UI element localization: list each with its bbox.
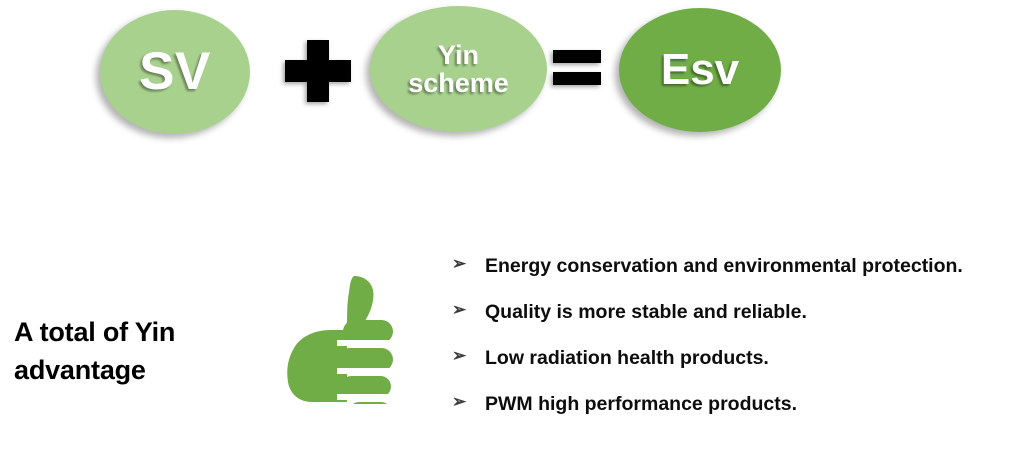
arrow-bullet-icon: ➢ xyxy=(452,248,485,279)
ellipse-yin-scheme: Yin scheme xyxy=(370,6,547,132)
list-item: ➢ Energy conservation and environmental … xyxy=(452,248,997,284)
ellipse-sv-label: SV xyxy=(133,44,217,100)
thumb-finger-bar-4 xyxy=(349,402,391,404)
thumb-separator-3 xyxy=(337,394,393,400)
arrow-bullet-icon: ➢ xyxy=(452,294,485,325)
list-item-label: Energy conservation and environmental pr… xyxy=(485,248,997,284)
thumb-separator-1 xyxy=(337,340,393,346)
ellipse-sv: SV xyxy=(100,10,250,134)
list-item-label: PWM high performance products. xyxy=(485,386,997,422)
list-item: ➢ Quality is more stable and reliable. xyxy=(452,294,997,330)
list-item-label: Low radiation health products. xyxy=(485,340,997,376)
thumb-finger-bar-2 xyxy=(338,348,393,371)
arrow-bullet-icon: ➢ xyxy=(452,340,485,371)
ellipse-esv-label: Esv xyxy=(655,47,745,93)
list-item-label: Quality is more stable and reliable. xyxy=(485,294,997,330)
list-item: ➢ PWM high performance products. xyxy=(452,386,997,422)
ellipse-esv: Esv xyxy=(619,8,781,132)
ellipse-yin-label-line1: Yin xyxy=(402,41,515,69)
plus-vertical-bar xyxy=(307,40,329,102)
slide-canvas: SV Yin scheme Esv A total of Yin advanta… xyxy=(0,0,1016,454)
ellipse-yin-label-line2: scheme xyxy=(402,69,515,97)
advantage-heading-line2: advantage xyxy=(14,351,254,389)
equation-row: SV Yin scheme Esv xyxy=(0,0,1016,150)
thumb-finger-bar-3 xyxy=(341,376,391,397)
arrow-bullet-icon: ➢ xyxy=(452,386,485,417)
equals-sign-icon xyxy=(553,50,601,86)
list-item: ➢ Low radiation health products. xyxy=(452,340,997,376)
advantage-heading: A total of Yin advantage xyxy=(14,313,254,390)
equals-bottom-bar xyxy=(553,72,601,85)
ellipse-yin-label: Yin scheme xyxy=(402,41,515,98)
equals-top-bar xyxy=(553,50,601,63)
thumb-separator-2 xyxy=(337,368,393,374)
advantage-bullet-list: ➢ Energy conservation and environmental … xyxy=(452,248,997,432)
thumb-finger-bar-1 xyxy=(343,320,393,343)
plus-sign-icon xyxy=(285,40,351,102)
advantage-heading-line1: A total of Yin xyxy=(14,313,254,351)
thumbs-up-icon xyxy=(281,272,393,404)
